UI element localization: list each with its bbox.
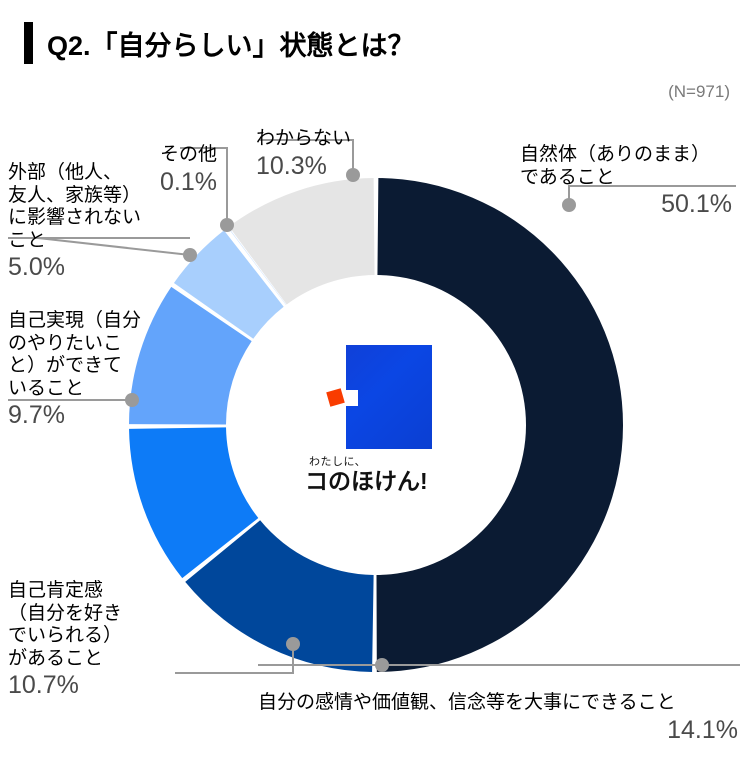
callout-self-realization-value: 9.7%: [8, 400, 160, 430]
callout-natural: 自然体（ありのまま） であること 50.1%: [520, 122, 732, 242]
logo-wordmark: コのほけん!: [305, 469, 428, 493]
callout-external-label: 外部（他人、 友人、家族等） に影響されない こと: [8, 162, 141, 250]
callout-self-esteem: 自己肯定感 （自分を好き でいられる） があること 10.7%: [8, 558, 160, 722]
leader-anchor-dot: [183, 248, 197, 262]
callout-self-esteem-value: 10.7%: [8, 670, 160, 700]
callout-self-esteem-label: 自己肯定感 （自分を好き でいられる） があること: [8, 580, 122, 668]
callout-dontknow-label: わからない: [256, 128, 351, 149]
leader-anchor-dot: [220, 218, 234, 232]
leader-anchor-dot: [286, 637, 300, 651]
logo-mark-icon: [328, 345, 432, 449]
callout-self-realization: 自己実現（自分 のやりたいこ と）ができて いること 9.7%: [8, 288, 160, 452]
logo-tagline: わたしに、: [309, 453, 366, 469]
callout-dontknow: わからない 10.3%: [256, 106, 366, 203]
chart-page: Q2.「自分らしい」状態とは？ (N=971) わたしに、 コのほけん! 自然体…: [0, 0, 750, 750]
callout-values: 自分の感情や価値観、信念等を大事にできること 14.1%: [258, 670, 738, 767]
callout-values-value: 14.1%: [258, 715, 738, 745]
callout-external-value: 5.0%: [8, 252, 176, 282]
callout-natural-label: 自然体（ありのまま） であること: [520, 144, 710, 187]
callout-values-label: 自分の感情や価値観、信念等を大事にできること: [258, 692, 676, 713]
brand-logo: わたしに、 コのほけん!: [305, 345, 455, 510]
callout-external: 外部（他人、 友人、家族等） に影響されない こと 5.0%: [8, 140, 176, 304]
callout-self-realization-label: 自己実現（自分 のやりたいこ と）ができて いること: [8, 310, 141, 398]
callout-dontknow-value: 10.3%: [256, 151, 366, 181]
logo-square-shape: [346, 345, 432, 449]
callout-natural-value: 50.1%: [520, 189, 732, 219]
